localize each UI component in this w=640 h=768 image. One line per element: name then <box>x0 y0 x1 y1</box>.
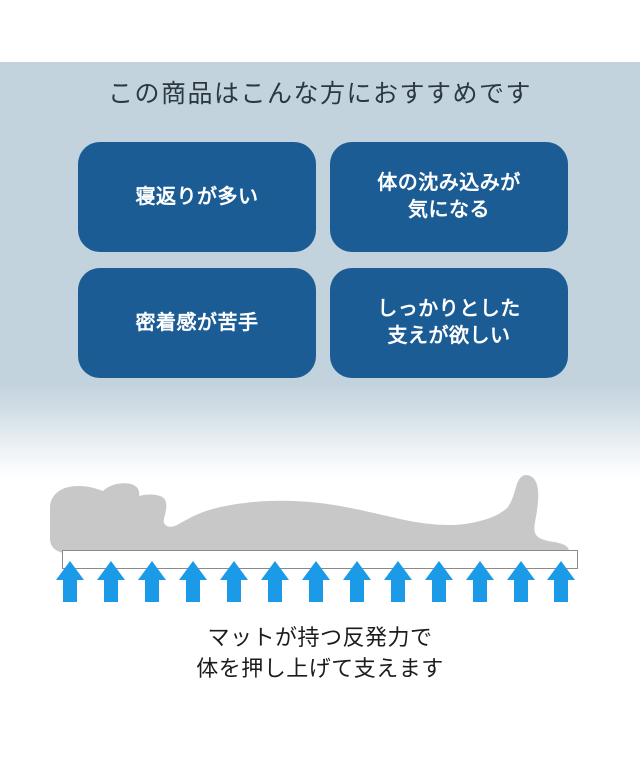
background-top-white-band <box>0 0 640 62</box>
mattress-outline <box>63 551 578 569</box>
illustration-caption: マットが持つ反発力で 体を押し上げて支えます <box>0 622 640 684</box>
benefit-card-1-label: 寝返りが多い <box>136 184 259 211</box>
benefit-card-3: 密着感が苦手 <box>78 268 316 378</box>
benefit-card-4: しっかりとした 支えが欲しい <box>330 268 568 378</box>
background-gradient-fade <box>0 386 640 478</box>
reclining-body-silhouette <box>50 475 569 558</box>
page-title: この商品はこんな方におすすめです <box>0 78 640 112</box>
benefit-card-2-label: 体の沈み込みが 気になる <box>377 170 521 224</box>
benefit-card-3-label: 密着感が苦手 <box>136 310 259 337</box>
infographic-page: この商品はこんな方におすすめです 寝返りが多い 体の沈み込みが 気になる 密着感… <box>0 0 640 768</box>
benefit-card-4-label: しっかりとした 支えが欲しい <box>377 296 521 350</box>
benefit-card-2: 体の沈み込みが 気になる <box>330 142 568 252</box>
benefit-card-1: 寝返りが多い <box>78 142 316 252</box>
mattress-support-illustration <box>0 470 640 610</box>
benefit-card-grid: 寝返りが多い 体の沈み込みが 気になる 密着感が苦手 しっかりとした 支えが欲し… <box>78 142 568 378</box>
